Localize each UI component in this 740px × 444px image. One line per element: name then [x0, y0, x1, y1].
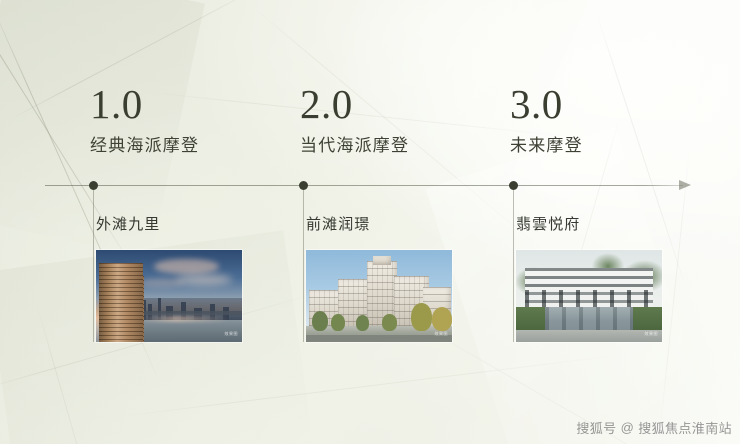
- era-subtitle-2: 当代海派摩登: [300, 137, 409, 154]
- era-number-2: 2.0: [300, 84, 409, 125]
- timeline-dot-2[interactable]: [299, 181, 308, 190]
- thumb2-tree-2: [331, 314, 346, 331]
- project-block-1[interactable]: 外滩九里 效果图: [96, 213, 242, 342]
- project-block-2[interactable]: 前滩润璟: [306, 213, 452, 342]
- watermark-prefix: 搜狐号: [576, 418, 616, 437]
- thumb3-plaza: [516, 330, 662, 342]
- timeline-dot-3[interactable]: [509, 181, 518, 190]
- era-subtitle-1: 经典海派摩登: [90, 137, 199, 154]
- timeline-arrow-icon: [679, 180, 691, 190]
- thumb2-tree-3: [356, 315, 369, 331]
- thumb2-tree-4: [382, 314, 397, 331]
- thumb2-road: [306, 335, 452, 342]
- era-heading-1: 1.0 经典海派摩登: [90, 84, 199, 154]
- era-subtitle-3: 未来摩登: [510, 137, 583, 154]
- thumb1-water-reflection: [140, 316, 231, 322]
- timeline-axis: [45, 185, 683, 186]
- project-thumbnail-1[interactable]: 效果图: [96, 250, 242, 342]
- thumb2-tree-5: [411, 303, 431, 331]
- timeline-stem-2: [303, 190, 304, 342]
- thumb1-tower-primary: [99, 263, 143, 342]
- era-number-1: 1.0: [90, 84, 199, 125]
- timeline-dot-1[interactable]: [89, 181, 98, 190]
- thumb1-tower-primary-floors: [99, 263, 143, 342]
- thumb2-tree-6: [432, 307, 452, 331]
- thumb2-render-stamp: 效果图: [435, 331, 449, 337]
- project-name-3: 翡雲悦府: [516, 213, 662, 234]
- timeline-stem-1: [93, 190, 94, 342]
- era-number-3: 3.0: [510, 84, 583, 125]
- thumb1-render-stamp: 效果图: [225, 331, 239, 337]
- thumb3-building: [525, 268, 654, 308]
- era-heading-3: 3.0 未来摩登: [510, 84, 583, 154]
- timeline-stem-3: [513, 190, 514, 342]
- project-name-1: 外滩九里: [96, 213, 242, 234]
- thumb2-tree-1: [312, 311, 328, 331]
- thumb3-render-stamp: 效果图: [645, 331, 659, 337]
- project-name-2: 前滩润璟: [306, 213, 452, 234]
- thumb1-embankment: [131, 311, 242, 316]
- thumb1-cloud-a: [154, 259, 218, 274]
- project-block-3[interactable]: 翡雲悦府 效果图: [516, 213, 662, 342]
- watermark-account: 搜狐焦点淮南站: [638, 418, 732, 437]
- watermark: 搜狐号 @ 搜狐焦点淮南站: [576, 418, 732, 437]
- watermark-at-icon: @: [621, 420, 635, 435]
- project-thumbnail-2[interactable]: 效果图: [306, 250, 452, 342]
- era-heading-2: 2.0 当代海派摩登: [300, 84, 409, 154]
- thumb1-cloud-b: [176, 274, 231, 285]
- slide-canvas: 1.0 经典海派摩登 外滩九里: [0, 0, 740, 444]
- thumb2-crown: [373, 256, 391, 265]
- project-thumbnail-3[interactable]: 效果图: [516, 250, 662, 342]
- thumb1-cloud-c: [140, 278, 184, 287]
